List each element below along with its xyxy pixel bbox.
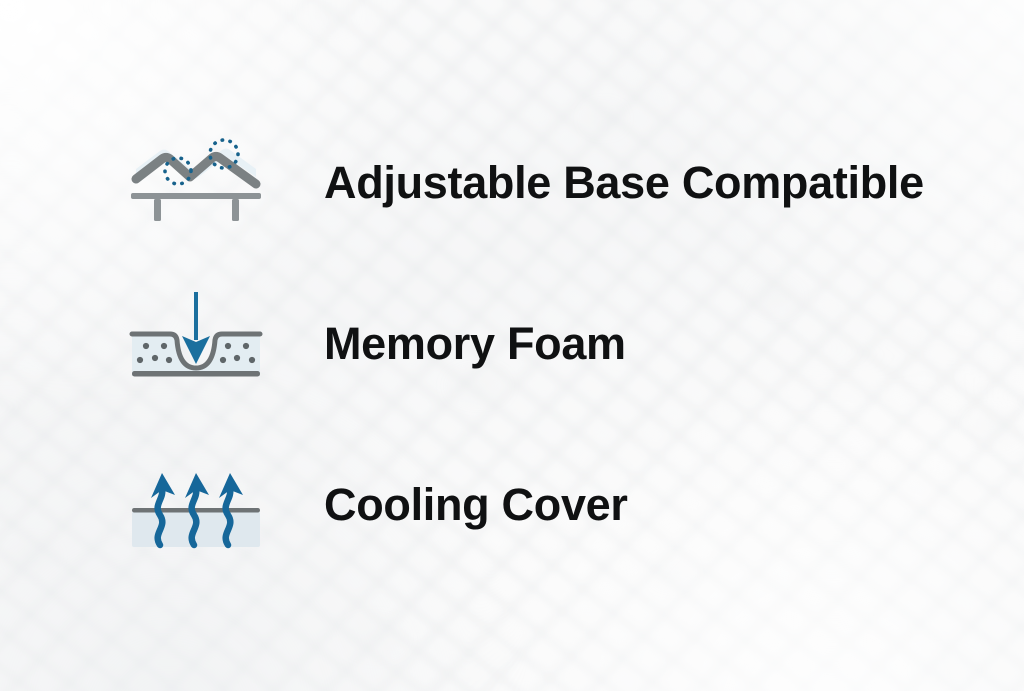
feature-row: Memory Foam [126,288,626,398]
feature-label: Cooling Cover [324,482,628,527]
feature-row: Adjustable Base Compatible [126,127,924,237]
feature-list: Adjustable Base Compatible [0,0,1024,691]
feature-label: Adjustable Base Compatible [324,160,924,205]
feature-graphic: Adjustable Base Compatible [0,0,1024,691]
feature-row: Cooling Cover [126,449,628,559]
memory-foam-icon [126,288,266,398]
feature-label: Memory Foam [324,321,626,366]
adjustable-base-icon [126,127,266,237]
cooling-cover-icon [126,449,266,559]
